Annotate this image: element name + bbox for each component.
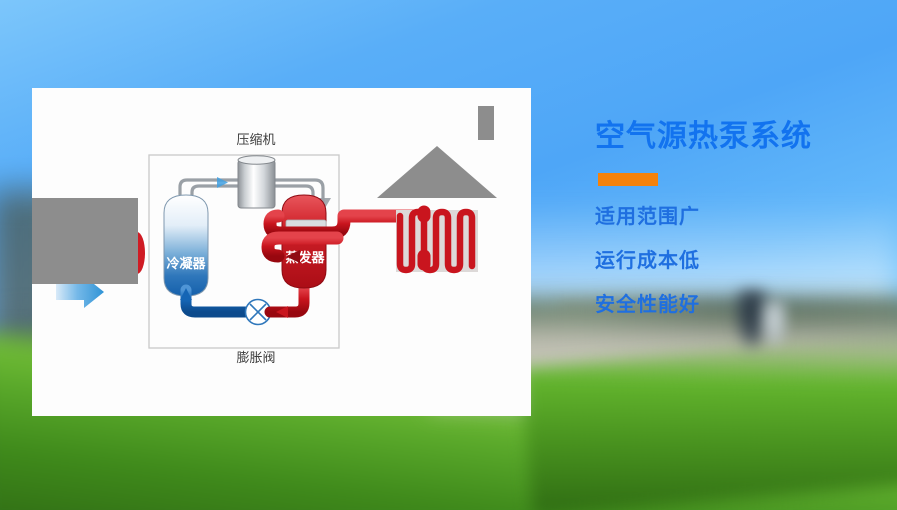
headline-block: 空气源热泵系统 适用范围广 运行成本低 安全性能好 xyxy=(595,120,885,338)
slide-canvas: 压缩机 冷凝器 膨胀阀 xyxy=(0,0,897,510)
list-item: 安全性能好 xyxy=(595,294,885,314)
list-item: 运行成本低 xyxy=(595,250,885,270)
compressor-label: 压缩机 xyxy=(236,132,275,148)
page-title: 空气源热泵系统 xyxy=(595,120,885,155)
title-underline-rule xyxy=(598,173,658,186)
floor-heating-coil xyxy=(400,212,472,270)
compressor-unit xyxy=(238,156,275,208)
house-roof xyxy=(377,146,497,198)
heat-pump-diagram: 压缩机 冷凝器 膨胀阀 xyxy=(32,88,531,416)
condenser-unit xyxy=(164,195,208,296)
feature-list: 适用范围广 运行成本低 安全性能好 xyxy=(595,206,885,314)
house-body xyxy=(32,198,138,284)
condenser-label: 冷凝器 xyxy=(166,256,206,272)
expansion-valve-label: 膨胀阀 xyxy=(236,351,275,366)
chimney-icon xyxy=(478,106,494,140)
diagram-card: 压缩机 冷凝器 膨胀阀 xyxy=(32,88,531,416)
list-item: 适用范围广 xyxy=(595,206,885,226)
